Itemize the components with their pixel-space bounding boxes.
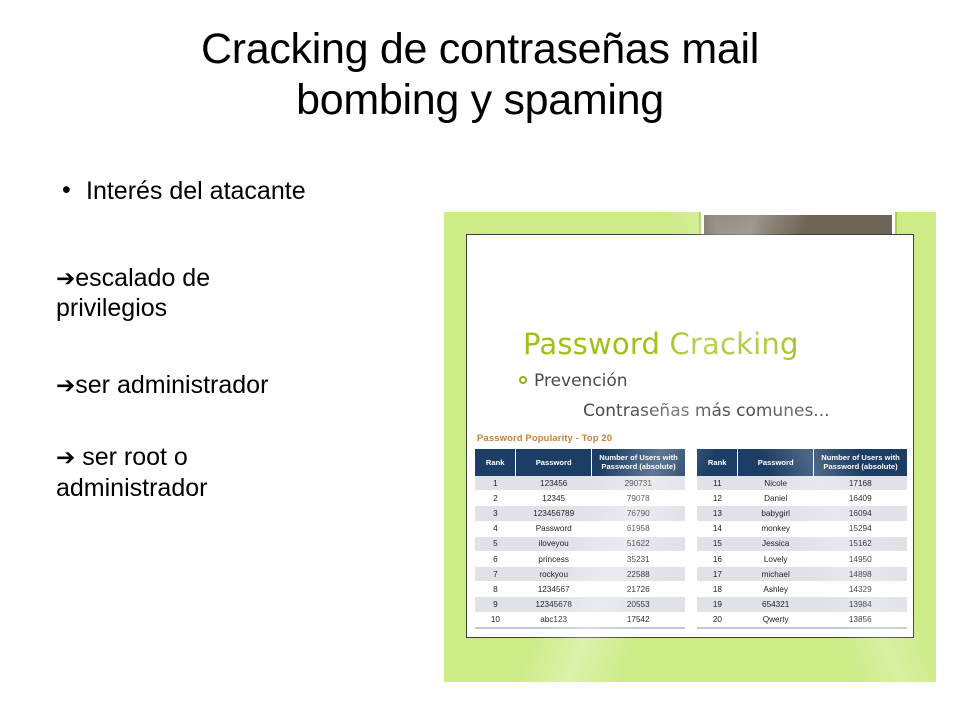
- embedded-slide-image: Password Cracking Prevención Contraseñas…: [444, 212, 936, 682]
- password-cell: Nicole: [738, 476, 814, 491]
- table-header-row: Rank Password Number of Users with Passw…: [475, 449, 685, 476]
- password-cell: Lovely: [738, 551, 814, 566]
- rank-cell: 20: [697, 612, 738, 628]
- rank-cell: 13: [697, 506, 738, 521]
- table-row: 1965432113984: [697, 597, 907, 612]
- password-cell: abc123: [516, 612, 592, 628]
- bullet-item-interes: Interés del atacante: [56, 176, 426, 207]
- password-cell: babygirl: [738, 506, 814, 521]
- arrow-item-escalado: ➔escalado de: [56, 263, 426, 294]
- rank-cell: 8: [475, 582, 516, 597]
- rank-cell: 18: [697, 582, 738, 597]
- arrow-item-root: ➔ ser root o: [56, 442, 426, 473]
- arrow-icon: ➔: [56, 373, 75, 399]
- password-popularity-label: Password Popularity - Top 20: [477, 433, 612, 444]
- page-title-line-1: Cracking de contraseñas mail: [0, 24, 960, 75]
- rank-cell: 15: [697, 536, 738, 551]
- users-cell: 13984: [814, 597, 907, 612]
- embedded-bullet-prevencion: Prevención: [519, 371, 628, 391]
- rank-cell: 16: [697, 551, 738, 566]
- embedded-bullet-label: Prevención: [534, 371, 628, 391]
- password-cell: 123456: [516, 476, 592, 491]
- rank-cell: 5: [475, 536, 516, 551]
- users-cell: 51622: [592, 536, 685, 551]
- body-content: Interés del atacante ➔escalado de privil…: [56, 176, 426, 503]
- password-cell: Ashley: [738, 582, 814, 597]
- spacer: [56, 207, 426, 263]
- users-cell: 79078: [592, 491, 685, 506]
- column-header-password: Password: [516, 449, 592, 476]
- table-row: 18Ashley14329: [697, 582, 907, 597]
- rank-cell: 6: [475, 551, 516, 566]
- table-row: 21234579078: [475, 491, 685, 506]
- spacer: [56, 324, 426, 370]
- rank-cell: 2: [475, 491, 516, 506]
- password-table-left-body: 1123456290731212345790783123456789767904…: [475, 476, 685, 628]
- rank-cell: 1: [475, 476, 516, 491]
- column-header-password: Password: [738, 449, 814, 476]
- table-row: 17michael14898: [697, 567, 907, 582]
- embedded-slide-sheet: Password Cracking Prevención Contraseñas…: [466, 234, 914, 638]
- column-header-rank: Rank: [697, 449, 738, 476]
- password-cell: 1234567: [516, 582, 592, 597]
- table-row: 312345678976790: [475, 506, 685, 521]
- users-cell: 17542: [592, 612, 685, 628]
- arrow-item-root-line-1: ser root o: [75, 443, 188, 471]
- password-cell: Password: [516, 521, 592, 536]
- rank-cell: 12: [697, 491, 738, 506]
- table-row: 7rockyou22588: [475, 567, 685, 582]
- table-row: 13babygirl16094: [697, 506, 907, 521]
- users-cell: 35231: [592, 551, 685, 566]
- table-row: 5iloveyou51622: [475, 536, 685, 551]
- column-header-users: Number of Users with Password (absolute): [592, 449, 685, 476]
- table-row: 4Password61958: [475, 521, 685, 536]
- table-row: 91234567820553: [475, 597, 685, 612]
- table-row: 12Daniel16409: [697, 491, 907, 506]
- users-cell: 14898: [814, 567, 907, 582]
- page-title: Cracking de contraseñas mail bombing y s…: [0, 24, 960, 125]
- password-cell: 12345: [516, 491, 592, 506]
- users-cell: 16094: [814, 506, 907, 521]
- table-header-row: Rank Password Number of Users with Passw…: [697, 449, 907, 476]
- embedded-heading: Password Cracking: [523, 327, 799, 361]
- rank-cell: 14: [697, 521, 738, 536]
- rank-cell: 9: [475, 597, 516, 612]
- users-cell: 290731: [592, 476, 685, 491]
- spacer: [56, 400, 426, 442]
- ring-bullet-icon: [519, 376, 527, 384]
- table-row: 14monkey15294: [697, 521, 907, 536]
- column-header-users: Number of Users with Password (absolute): [814, 449, 907, 476]
- table-row: 11Nicole17168: [697, 476, 907, 491]
- arrow-item-escalado-line-1: escalado de: [75, 264, 210, 292]
- arrow-item-administrador: ➔ser administrador: [56, 370, 426, 401]
- password-cell: iloveyou: [516, 536, 592, 551]
- rank-cell: 4: [475, 521, 516, 536]
- password-cell: Jessica: [738, 536, 814, 551]
- password-table-left: Rank Password Number of Users with Passw…: [475, 449, 685, 629]
- password-table-right: Rank Password Number of Users with Passw…: [697, 449, 907, 629]
- users-cell: 76790: [592, 506, 685, 521]
- password-cell: 12345678: [516, 597, 592, 612]
- rank-cell: 17: [697, 567, 738, 582]
- table-row: 8123456721726: [475, 582, 685, 597]
- users-cell: 17168: [814, 476, 907, 491]
- table-row: 10abc12317542: [475, 612, 685, 628]
- password-table-right-body: 11Nicole1716812Daniel1640913babygirl1609…: [697, 476, 907, 628]
- users-cell: 15294: [814, 521, 907, 536]
- table-row: 16Lovely14950: [697, 551, 907, 566]
- rank-cell: 10: [475, 612, 516, 628]
- users-cell: 16409: [814, 491, 907, 506]
- password-cell: monkey: [738, 521, 814, 536]
- embedded-subtitle: Contraseñas más comunes...: [583, 401, 830, 421]
- table-row: 20Qwerty13856: [697, 612, 907, 628]
- users-cell: 22588: [592, 567, 685, 582]
- rank-cell: 7: [475, 567, 516, 582]
- arrow-icon: ➔: [56, 266, 75, 292]
- arrow-item-root-line-2: administrador: [56, 473, 426, 504]
- password-cell: Qwerty: [738, 612, 814, 628]
- password-cell: 654321: [738, 597, 814, 612]
- password-cell: michael: [738, 567, 814, 582]
- users-cell: 13856: [814, 612, 907, 628]
- users-cell: 15162: [814, 536, 907, 551]
- users-cell: 61958: [592, 521, 685, 536]
- table-row: 6princess35231: [475, 551, 685, 566]
- rank-cell: 19: [697, 597, 738, 612]
- users-cell: 14329: [814, 582, 907, 597]
- arrow-icon: ➔: [56, 445, 75, 471]
- rank-cell: 3: [475, 506, 516, 521]
- page-title-line-2: bombing y spaming: [0, 75, 960, 126]
- password-cell: rockyou: [516, 567, 592, 582]
- arrow-item-administrador-label: ser administrador: [75, 371, 268, 399]
- arrow-item-escalado-line-2: privilegios: [56, 293, 426, 324]
- password-tables: Rank Password Number of Users with Passw…: [475, 449, 907, 629]
- users-cell: 21726: [592, 582, 685, 597]
- rank-cell: 11: [697, 476, 738, 491]
- table-row: 1123456290731: [475, 476, 685, 491]
- password-cell: princess: [516, 551, 592, 566]
- table-row: 15Jessica15162: [697, 536, 907, 551]
- users-cell: 14950: [814, 551, 907, 566]
- column-header-rank: Rank: [475, 449, 516, 476]
- password-cell: Daniel: [738, 491, 814, 506]
- password-cell: 123456789: [516, 506, 592, 521]
- users-cell: 20553: [592, 597, 685, 612]
